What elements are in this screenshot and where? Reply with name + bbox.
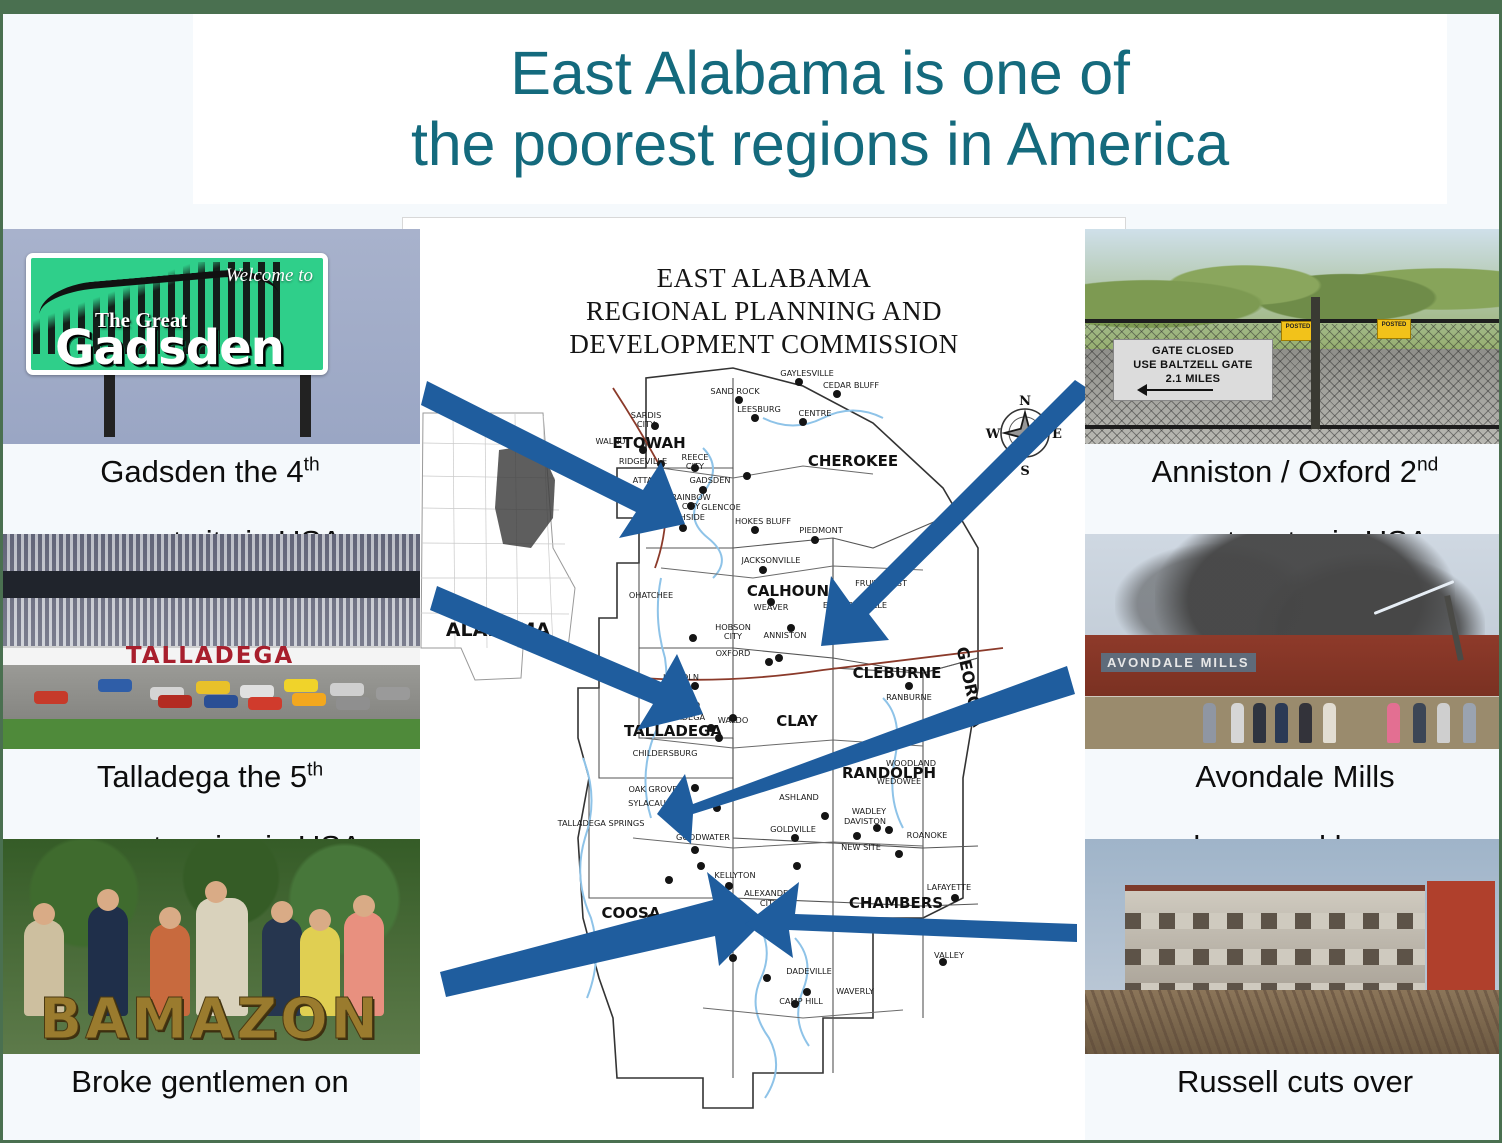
caption-ordinal: th (307, 760, 323, 781)
bystander (1413, 703, 1426, 743)
panel-anniston: GATE CLOSED USE BALTZELL GATE 2.1 MILES … (1085, 229, 1502, 534)
svg-text:CITY: CITY (637, 419, 656, 429)
bystander (1203, 703, 1216, 743)
gate-post (1311, 297, 1320, 429)
svg-text:DADEVILLE: DADEVILLE (786, 966, 832, 976)
svg-text:LAFAYETTE: LAFAYETTE (927, 882, 971, 892)
panel-talladega: TALLADEGA Talladega the 5th (0, 534, 420, 839)
track-wall: TALLADEGA (0, 646, 420, 665)
svg-text:GLENCOE: GLENCOE (701, 502, 741, 512)
sign-city-name: Gadsden (55, 320, 284, 375)
caption-line2: 10,000 jobs (1215, 1134, 1375, 1143)
race-car (34, 691, 68, 704)
svg-text:WALNUT: WALNUT (596, 436, 632, 446)
svg-text:OXFORD: OXFORD (716, 648, 751, 658)
red-brick-wall (1427, 881, 1495, 993)
svg-text:CAMP HILL: CAMP HILL (779, 996, 823, 1006)
bystander (1323, 703, 1336, 743)
map-graphic: ETOWAH CHEROKEE CALHOUN CLEBURNE TALLADE… (403, 218, 1126, 1142)
svg-text:RIDGEVILLE: RIDGEVILLE (619, 456, 667, 466)
caption-line2: national television (87, 1134, 333, 1143)
anniston-army-depot-gate-photo: GATE CLOSED USE BALTZELL GATE 2.1 MILES … (1085, 229, 1502, 444)
caption-line1: Gadsden the 4 (100, 454, 303, 489)
svg-text:JACKSONVILLE: JACKSONVILLE (741, 555, 801, 565)
county-label-chambers: CHAMBERS (849, 894, 943, 912)
posted-sign: POSTED (1281, 321, 1315, 341)
svg-text:NEW SITE: NEW SITE (841, 842, 881, 852)
press-box (0, 571, 420, 599)
mill-building: AVONDALE MILLS (1085, 635, 1502, 697)
rubble-pile (1085, 990, 1502, 1054)
infield-grass (0, 719, 420, 749)
race-car (330, 683, 364, 696)
panel-avondale: AVONDALE MILLS Avondale Mills closes and… (1085, 534, 1502, 839)
svg-text:WADLEY: WADLEY (852, 806, 887, 816)
bystander (1299, 703, 1312, 743)
fence-rail-bottom (1085, 425, 1502, 429)
race-car (292, 693, 326, 706)
svg-text:OAK GROVE: OAK GROVE (629, 784, 678, 794)
russell-mill-demolition-photo (1085, 839, 1502, 1054)
svg-text:LEESBURG: LEESBURG (737, 404, 781, 414)
state-label-alabama: ALABAMA (446, 619, 551, 641)
svg-text:SOUTHSIDE: SOUTHSIDE (657, 512, 705, 522)
svg-text:CEDAR BLUFF: CEDAR BLUFF (823, 380, 879, 390)
svg-text:MUNFORD: MUNFORD (658, 700, 700, 710)
bystander (1275, 703, 1288, 743)
svg-text:WAVERLY: WAVERLY (836, 986, 875, 996)
bystander (1253, 703, 1266, 743)
svg-text:CITY: CITY (686, 461, 705, 471)
svg-text:WALDO: WALDO (718, 715, 749, 725)
compass-west: W (985, 427, 1001, 442)
svg-text:ANNISTON: ANNISTON (763, 630, 806, 640)
demolished-building (1125, 885, 1425, 993)
race-car (196, 681, 230, 694)
panel-bamazon: BAMAZON Broke gentlemen on national tele… (0, 839, 420, 1143)
gadsden-sign-board: Welcome to The Great Gadsden (26, 253, 328, 375)
svg-text:CITY: CITY (724, 631, 743, 641)
bamazon-tv-show-photo: BAMAZON (0, 839, 420, 1054)
compass-rose: N E S W (985, 394, 1062, 479)
svg-text:ATTALLA: ATTALLA (633, 475, 668, 485)
race-car (204, 695, 238, 708)
panel-gadsden: Welcome to The Great Gadsden Gadsden the… (0, 229, 420, 534)
bamazon-logo-text: BAMAZON (8, 987, 412, 1052)
bystander (1231, 703, 1244, 743)
svg-text:KELLYTON: KELLYTON (714, 870, 755, 880)
sign-arrow-shaft (1143, 389, 1213, 391)
panel-russell: Russell cuts over 10,000 jobs (1085, 839, 1502, 1143)
svg-text:WOODLAND: WOODLAND (886, 758, 936, 768)
svg-text:GOLDVILLE: GOLDVILLE (770, 824, 816, 834)
svg-text:GADSDEN: GADSDEN (689, 475, 730, 485)
caption-avondale: Avondale Mills closes and burns (1085, 749, 1502, 839)
sign-arrow-head (1137, 384, 1147, 396)
compass-east: E (1052, 427, 1062, 442)
svg-text:OHATCHEE: OHATCHEE (629, 590, 673, 600)
bystander (1387, 703, 1400, 743)
compass-north: N (1019, 394, 1031, 409)
race-car (248, 697, 282, 710)
sign-post-right (300, 375, 311, 437)
posted-sign: POSTED (1377, 319, 1411, 339)
county-label-cleburne: CLEBURNE (853, 664, 942, 682)
svg-text:TALLADEGA: TALLADEGA (656, 712, 706, 722)
caption-ordinal: nd (1417, 455, 1438, 476)
slide-title-box: East Alabama is one of the poorest regio… (193, 14, 1447, 204)
caption-line1: Anniston / Oxford 2 (1152, 454, 1417, 489)
caption-russell: Russell cuts over 10,000 jobs (1085, 1054, 1502, 1143)
caption-line1: Talladega the 5 (97, 759, 307, 794)
svg-text:ROANOKE: ROANOKE (907, 830, 948, 840)
svg-text:FRUITHURST: FRUITHURST (855, 578, 908, 588)
svg-text:WEAVER: WEAVER (754, 602, 789, 612)
page-title: East Alabama is one of the poorest regio… (411, 38, 1229, 181)
state-label-georgia: GEORGIA (953, 645, 989, 729)
svg-text:TALLADEGA SPRINGS: TALLADEGA SPRINGS (557, 818, 645, 828)
svg-text:VALLEY: VALLEY (934, 950, 965, 960)
caption-bamazon: Broke gentlemen on national television (0, 1054, 420, 1143)
east-alabama-map-panel: EAST ALABAMA REGIONAL PLANNING AND DEVEL… (402, 217, 1126, 1142)
svg-text:CHILDERSBURG: CHILDERSBURG (633, 748, 698, 758)
svg-text:DAVISTON: DAVISTON (844, 816, 886, 826)
svg-text:CITY: CITY (760, 898, 779, 908)
svg-text:HOKES BLUFF: HOKES BLUFF (735, 516, 791, 526)
svg-text:ASHLAND: ASHLAND (779, 792, 819, 802)
county-label-cherokee: CHEROKEE (808, 452, 898, 470)
svg-text:ROCKFORD: ROCKFORD (652, 920, 698, 930)
svg-text:GAYLESVILLE: GAYLESVILLE (780, 368, 834, 378)
presentation-slide: East Alabama is one of the poorest regio… (0, 0, 1502, 1143)
window-row (1125, 913, 1425, 929)
county-label-clay: CLAY (776, 712, 819, 730)
caption-line1: Russell cuts over (1177, 1064, 1413, 1099)
svg-text:SYLACAUGA: SYLACAUGA (628, 798, 678, 808)
alabama-state-inset: ALABAMA (421, 413, 575, 680)
svg-text:PIEDMONT: PIEDMONT (799, 525, 843, 535)
caption-ordinal: th (304, 455, 320, 476)
bystander (1437, 703, 1450, 743)
mill-building-name: AVONDALE MILLS (1101, 653, 1256, 672)
svg-text:ALEXANDER: ALEXANDER (744, 888, 794, 898)
caption-talladega: Talladega the 5th poorest region in USA (0, 749, 420, 839)
race-car (376, 687, 410, 700)
gadsden-welcome-sign-photo: Welcome to The Great Gadsden (0, 229, 420, 444)
county-label-talladega: TALLADEGA (624, 722, 722, 740)
avondale-mills-fire-photo: AVONDALE MILLS (1085, 534, 1502, 749)
county-label-calhoun: CALHOUN (747, 582, 829, 600)
caption-line1: Avondale Mills (1195, 759, 1394, 794)
sign-welcome-text: Welcome to (226, 265, 313, 287)
race-car (158, 695, 192, 708)
talladega-speedway-photo: TALLADEGA (0, 534, 420, 749)
caption-anniston: Anniston / Oxford 2nd worst metro in USA (1085, 444, 1502, 534)
svg-text:LINCOLN: LINCOLN (663, 672, 699, 682)
caption-gadsden: Gadsden the 4th poorest city in USA (0, 444, 420, 534)
caption-line1: Broke gentlemen on (71, 1064, 348, 1099)
race-car (284, 679, 318, 692)
svg-text:CITY: CITY (682, 501, 701, 511)
svg-text:CENTRE: CENTRE (799, 408, 832, 418)
race-car (336, 697, 370, 710)
sign-post-left (104, 375, 115, 437)
svg-text:EDWARDSVILLE: EDWARDSVILLE (823, 600, 887, 610)
window-row (1125, 949, 1425, 965)
race-car (98, 679, 132, 692)
race-track (0, 665, 420, 719)
svg-text:GOODWATER: GOODWATER (676, 832, 730, 842)
svg-text:SAND ROCK: SAND ROCK (710, 386, 760, 396)
compass-south: S (1020, 464, 1029, 479)
bystander (1463, 703, 1476, 743)
svg-text:RANBURNE: RANBURNE (886, 692, 932, 702)
svg-text:WEDOWEE: WEDOWEE (877, 776, 921, 786)
